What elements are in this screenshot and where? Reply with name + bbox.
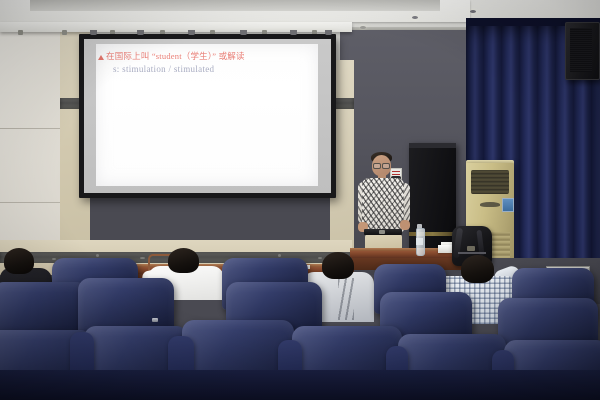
ac-vent-grille [471, 170, 509, 194]
downlight-icon [360, 26, 366, 29]
slide-line-1-text: 在国际上叫 “student（学生）” 或解读 [106, 51, 245, 61]
slide-text-line-1: 在国际上叫 “student（学生）” 或解读 [98, 50, 328, 62]
screen-clip [290, 30, 297, 35]
ac-logo [480, 202, 500, 207]
valance-bracket [62, 30, 67, 35]
speaker-grille [570, 28, 592, 72]
shirt-stripe-detail [338, 278, 354, 320]
floor [0, 370, 600, 400]
cabinet-top [409, 143, 456, 148]
slide-text-line-2: s: stimulation / stimulated [113, 64, 328, 74]
ceiling-recess [30, 0, 440, 11]
screen-clip [240, 30, 247, 35]
backpack-zipper [458, 252, 486, 254]
lecture-hall-scene: 在国际上叫 “student（学生）” 或解读 s: stimulation /… [0, 0, 600, 400]
panel-seam [0, 128, 60, 129]
bullet-triangle-icon [98, 55, 104, 60]
downlight-icon [412, 16, 418, 19]
screen-clip [137, 30, 144, 35]
belt-buckle [379, 230, 385, 234]
attendee-center-right-head [322, 252, 354, 279]
screen-clip [90, 30, 97, 35]
downlight-icon [470, 10, 476, 13]
screen-clip [188, 30, 195, 35]
presenter-shirt [362, 178, 404, 232]
attendee-right-head [461, 255, 494, 283]
ceiling-speaker-icon [565, 22, 600, 80]
attendee-left-head [4, 248, 34, 274]
valance-bracket [18, 30, 23, 35]
ac-energy-label [502, 198, 514, 212]
wall-panel-left [0, 30, 60, 270]
panel-seam [0, 202, 60, 203]
backpack-buckle [467, 246, 475, 251]
attendee-center-left-head [168, 248, 199, 273]
screen-valance [0, 22, 352, 32]
screen-clip [325, 30, 332, 35]
eyeglasses-icon [373, 163, 390, 167]
bottle-label [416, 238, 423, 245]
